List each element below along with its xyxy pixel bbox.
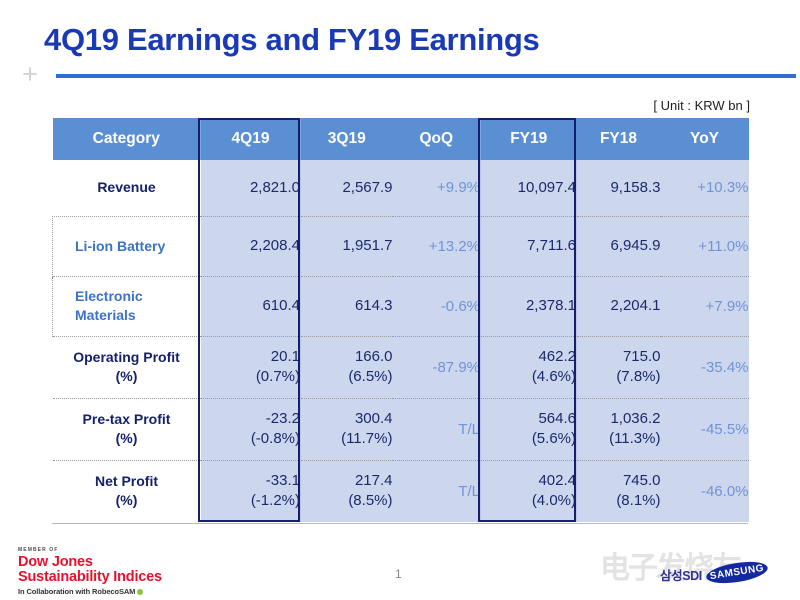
value-main: 715.0 <box>623 348 661 365</box>
cell-op-fy19: 462.2 (4.6%) <box>481 336 577 398</box>
value-margin: (5.6%) <box>532 430 576 447</box>
row-label-revenue: Revenue <box>53 160 201 216</box>
cell-net-fy19: 402.4 (4.0%) <box>481 460 577 522</box>
value-main: 564.6 <box>538 410 576 427</box>
earnings-table: Category 4Q19 3Q19 QoQ FY19 FY18 YoY Rev… <box>52 118 749 522</box>
cell-op-4q19: 20.1 (0.7%) <box>201 336 301 398</box>
cell-revenue-3q19: 2,567.9 <box>301 160 393 216</box>
value-main: 402.4 <box>538 472 576 489</box>
cell-op-3q19: 166.0 (6.5%) <box>301 336 393 398</box>
cell-liion-3q19: 1,951.7 <box>301 216 393 276</box>
table-header-row: Category 4Q19 3Q19 QoQ FY19 FY18 YoY <box>53 118 749 160</box>
cell-revenue-fy18: 9,158.3 <box>577 160 661 216</box>
earnings-table-wrap: Category 4Q19 3Q19 QoQ FY19 FY18 YoY Rev… <box>52 118 748 522</box>
row-label-line2: (%) <box>116 492 138 508</box>
djsi-member-of: MEMBER OF <box>18 548 168 553</box>
cell-liion-4q19: 2,208.4 <box>201 216 301 276</box>
row-label-line2: (%) <box>116 368 138 384</box>
value-margin: (11.3%) <box>609 430 660 447</box>
cell-pretax-3q19: 300.4 (11.7%) <box>301 398 393 460</box>
row-label-line1: Operating Profit <box>73 349 180 365</box>
samsung-sdi-logo: 삼성SDI <box>660 565 702 584</box>
cell-net-qoq: T/L <box>393 460 481 522</box>
value-margin: (-0.8%) <box>251 430 300 447</box>
cell-op-fy18: 715.0 (7.8%) <box>577 336 661 398</box>
value-margin: (8.5%) <box>348 492 392 509</box>
cell-pretax-qoq: T/L <box>393 398 481 460</box>
cell-pretax-fy19: 564.6 (5.6%) <box>481 398 577 460</box>
robecosam-dot-icon <box>137 589 143 595</box>
value-main: 462.2 <box>538 348 576 365</box>
djsi-logo: MEMBER OF Dow Jones Sustainability Indic… <box>18 548 168 596</box>
cell-op-yoy: -35.4% <box>661 336 749 398</box>
cell-revenue-qoq: +9.9% <box>393 160 481 216</box>
value-margin: (4.6%) <box>532 368 576 385</box>
table-row: Operating Profit (%) 20.1 (0.7%) 166.0 (… <box>53 336 749 398</box>
row-label-li-ion-battery: Li-ion Battery <box>53 216 201 276</box>
cell-revenue-fy19: 10,097.4 <box>481 160 577 216</box>
cell-emat-fy19: 2,378.1 <box>481 276 577 336</box>
cell-pretax-fy18: 1,036.2 (11.3%) <box>577 398 661 460</box>
col-header-qoq: QoQ <box>393 118 481 160</box>
cell-net-yoy: -46.0% <box>661 460 749 522</box>
cell-emat-yoy: +7.9% <box>661 276 749 336</box>
row-label-line1: Electronic <box>75 288 143 304</box>
row-label-line1: Pre-tax Profit <box>83 411 171 427</box>
value-margin: (7.8%) <box>616 368 660 385</box>
cell-net-fy18: 745.0 (8.1%) <box>577 460 661 522</box>
col-header-fy19: FY19 <box>481 118 577 160</box>
col-header-yoy: YoY <box>661 118 749 160</box>
value-main: 1,036.2 <box>610 410 660 427</box>
cell-liion-fy19: 7,711.6 <box>481 216 577 276</box>
cell-pretax-yoy: -45.5% <box>661 398 749 460</box>
value-margin: (-1.2%) <box>251 492 300 509</box>
value-margin: (0.7%) <box>256 368 300 385</box>
title-underline-rule <box>56 74 796 78</box>
col-header-3q19: 3Q19 <box>301 118 393 160</box>
table-row: Net Profit (%) -33.1 (-1.2%) 217.4 (8.5%… <box>53 460 749 522</box>
djsi-collaboration: In Collaboration with RobecoSAM <box>18 587 168 596</box>
cell-liion-qoq: +13.2% <box>393 216 481 276</box>
cell-emat-4q19: 610.4 <box>201 276 301 336</box>
row-label-net-profit: Net Profit (%) <box>53 460 201 522</box>
cell-net-4q19: -33.1 (-1.2%) <box>201 460 301 522</box>
djsi-line2: Sustainability Indices <box>18 570 168 585</box>
value-margin: (6.5%) <box>348 368 392 385</box>
cell-liion-yoy: +11.0% <box>661 216 749 276</box>
plus-decoration-icon: + <box>18 62 42 86</box>
value-main: -33.1 <box>266 472 300 489</box>
value-main: -23.2 <box>266 410 300 427</box>
cell-emat-fy18: 2,204.1 <box>577 276 661 336</box>
cell-net-3q19: 217.4 (8.5%) <box>301 460 393 522</box>
value-main: 745.0 <box>623 472 661 489</box>
value-margin: (8.1%) <box>616 492 660 509</box>
cell-emat-3q19: 614.3 <box>301 276 393 336</box>
cell-revenue-yoy: +10.3% <box>661 160 749 216</box>
djsi-collab-text: In Collaboration with RobecoSAM <box>18 587 135 596</box>
page-title: 4Q19 Earnings and FY19 Earnings <box>44 22 539 58</box>
value-margin: (4.0%) <box>532 492 576 509</box>
table-row: Li-ion Battery 2,208.4 1,951.7 +13.2% 7,… <box>53 216 749 276</box>
slide-root: + 4Q19 Earnings and FY19 Earnings [ Unit… <box>0 0 800 600</box>
col-header-4q19: 4Q19 <box>201 118 301 160</box>
row-label-line1: Net Profit <box>95 473 158 489</box>
unit-label: [ Unit : KRW bn ] <box>653 98 750 113</box>
value-main: 300.4 <box>355 410 393 427</box>
table-row: Pre-tax Profit (%) -23.2 (-0.8%) 300.4 (… <box>53 398 749 460</box>
value-main: 217.4 <box>355 472 393 489</box>
page-number: 1 <box>395 567 402 581</box>
table-row: Electronic Materials 610.4 614.3 -0.6% 2… <box>53 276 749 336</box>
cell-liion-fy18: 6,945.9 <box>577 216 661 276</box>
row-label-electronic-materials: Electronic Materials <box>53 276 201 336</box>
cell-emat-qoq: -0.6% <box>393 276 481 336</box>
cell-revenue-4q19: 2,821.0 <box>201 160 301 216</box>
table-row: Revenue 2,821.0 2,567.9 +9.9% 10,097.4 9… <box>53 160 749 216</box>
cell-pretax-4q19: -23.2 (-0.8%) <box>201 398 301 460</box>
cell-op-qoq: -87.9% <box>393 336 481 398</box>
row-label-pretax-profit: Pre-tax Profit (%) <box>53 398 201 460</box>
col-header-fy18: FY18 <box>577 118 661 160</box>
row-label-operating-profit: Operating Profit (%) <box>53 336 201 398</box>
row-label-line2: (%) <box>116 430 138 446</box>
row-label-line2: Materials <box>75 307 136 323</box>
djsi-line1: Dow Jones <box>18 555 168 570</box>
table-bottom-rule <box>52 523 748 524</box>
value-main: 20.1 <box>271 348 300 365</box>
value-main: 166.0 <box>355 348 393 365</box>
value-margin: (11.7%) <box>341 430 392 447</box>
col-header-category: Category <box>53 118 201 160</box>
